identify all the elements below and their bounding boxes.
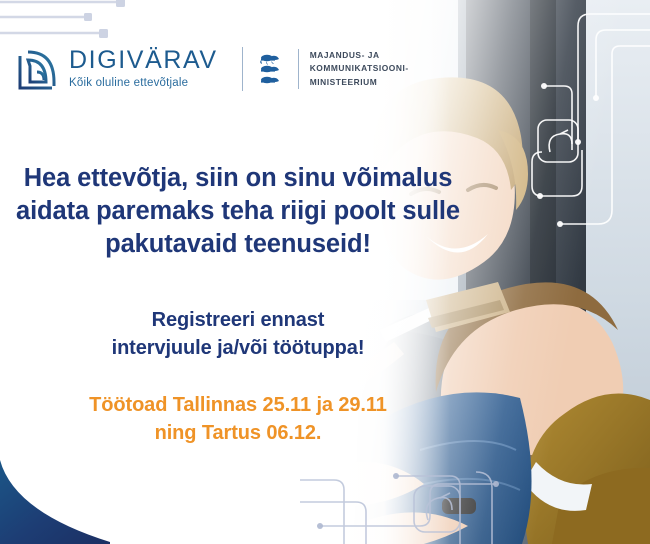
poster-canvas: DIGIVÄRAV Kõik oluline ettevõtjale (0, 0, 650, 544)
headline-line-2: aidata paremaks teha riigi poolt sulle (0, 195, 476, 228)
ministry-line-3: Ministeerium (310, 76, 409, 89)
ministry-logo[interactable]: Majandus- ja Kommunikatsiooni- Ministeer… (257, 49, 409, 89)
headline-text: Hea ettevõtja, siin on sinu võimalus aid… (0, 162, 476, 261)
digivarav-spiral-mark-icon (16, 46, 60, 92)
brand-title: DIGIVÄRAV (69, 48, 218, 73)
headline-line-1: Hea ettevõtja, siin on sinu võimalus (0, 162, 476, 195)
dates-line-2: ning Tartus 06.12. (0, 419, 476, 447)
circuit-traces-right (520, 0, 650, 250)
decor-circuit-bottom (300, 454, 530, 544)
dates-line-1: Töötoad Tallinnas 25.11 ja 29.11 (0, 391, 476, 419)
ministry-line-1: Majandus- ja (310, 49, 409, 62)
subheadline-line-2: intervjuule ja/või töötuppa! (0, 334, 476, 362)
estonia-three-lions-coat-of-arms-icon (257, 50, 287, 88)
workshop-dates-text: Töötoad Tallinnas 25.11 ja 29.11 ning Ta… (0, 391, 476, 448)
brand-logo[interactable]: DIGIVÄRAV Kõik oluline ettevõtjale (16, 46, 218, 92)
logo-divider (242, 47, 243, 91)
subheadline-text: Registreeri ennast intervjuule ja/või tö… (0, 306, 476, 363)
decor-navy-corner (0, 454, 200, 544)
header-logos: DIGIVÄRAV Kõik oluline ettevõtjale (16, 46, 409, 92)
brand-tagline: Kõik oluline ettevõtjale (69, 78, 218, 90)
subheadline-line-1: Registreeri ennast (0, 306, 476, 334)
ministry-name: Majandus- ja Kommunikatsiooni- Ministeer… (310, 49, 409, 88)
headline-line-3: pakutavaid teenuseid! (0, 228, 476, 261)
ministry-line-2: Kommunikatsiooni- (310, 62, 409, 75)
ministry-divider (298, 49, 299, 89)
